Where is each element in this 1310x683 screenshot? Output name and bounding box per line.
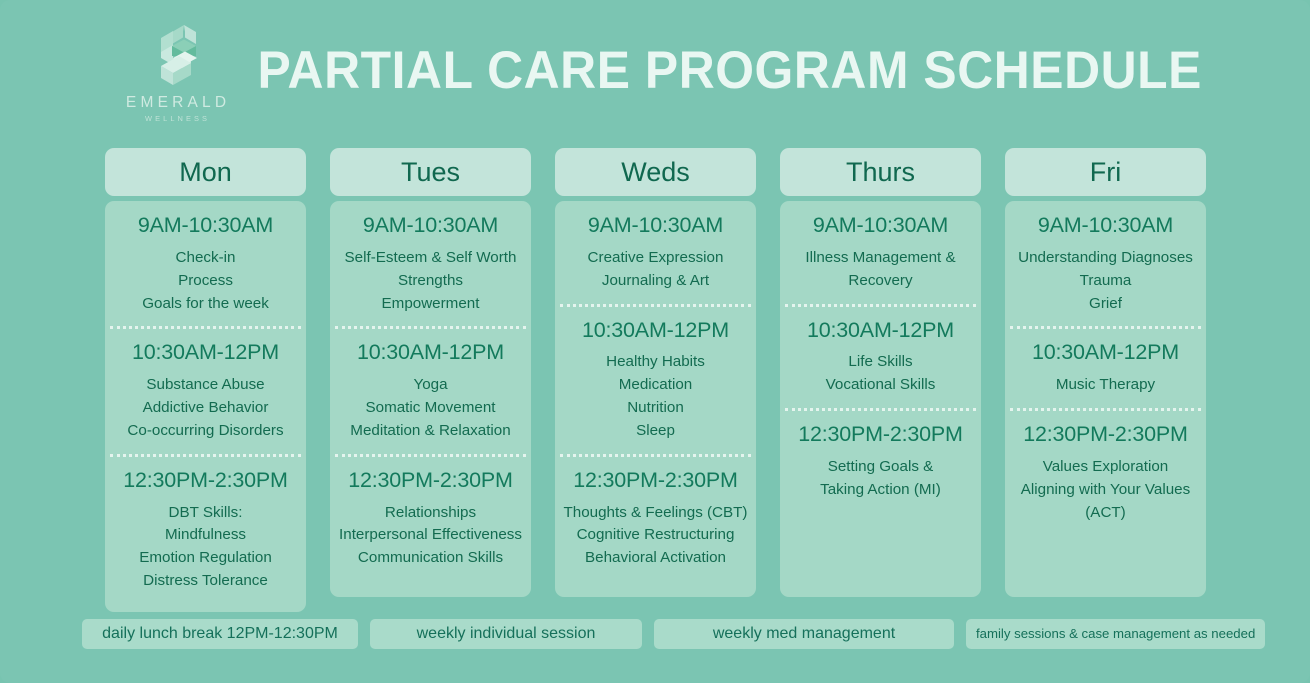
slot-time: 12:30PM-2:30PM (112, 468, 299, 493)
slot-activity-line: Mindfulness (112, 524, 299, 547)
slot-activity-line: Co-occurring Disorders (112, 420, 299, 443)
brand-lockup: EMERALD WELLNESS (128, 22, 224, 123)
day-card: 9AM-10:30AMSelf-Esteem & Self WorthStren… (330, 201, 531, 597)
slot-activities: Creative ExpressionJournaling & Art (562, 247, 749, 293)
schedule-slot[interactable]: 9AM-10:30AMCheck-inProcessGoals for the … (110, 207, 301, 324)
slot-activity-line: Yoga (337, 374, 524, 397)
slot-time: 9AM-10:30AM (787, 213, 974, 238)
slot-activities: Illness Management &Recovery (787, 247, 974, 293)
slot-activity-line: Setting Goals & (787, 456, 974, 479)
slot-time: 10:30AM-12PM (1012, 340, 1199, 365)
slot-activity-line: Healthy Habits (562, 351, 749, 374)
day-card: 9AM-10:30AMCreative ExpressionJournaling… (555, 201, 756, 597)
slot-activity-line: Aligning with Your Values (1012, 479, 1199, 502)
slot-activities: RelationshipsInterpersonal Effectiveness… (337, 502, 524, 570)
slot-activity-line: Process (112, 270, 299, 293)
slot-activities: Music Therapy (1012, 374, 1199, 397)
schedule-slot[interactable]: 10:30AM-12PMLife SkillsVocational Skills (785, 304, 976, 407)
schedule-slot[interactable]: 12:30PM-2:30PMSetting Goals &Taking Acti… (785, 408, 976, 511)
footer-note[interactable]: daily lunch break 12PM-12:30PM (82, 619, 358, 649)
slot-time: 10:30AM-12PM (787, 318, 974, 343)
slot-activity-line: Behavioral Activation (562, 547, 749, 570)
slot-time: 12:30PM-2:30PM (1012, 422, 1199, 447)
day-card: 9AM-10:30AMCheck-inProcessGoals for the … (105, 201, 306, 612)
slot-activity-line: Illness Management & (787, 247, 974, 270)
slot-activity-line: Self-Esteem & Self Worth (337, 247, 524, 270)
schedule-grid: Mon9AM-10:30AMCheck-inProcessGoals for t… (105, 148, 1205, 612)
day-column: Mon9AM-10:30AMCheck-inProcessGoals for t… (105, 148, 306, 612)
schedule-slot[interactable]: 9AM-10:30AMUnderstanding DiagnosesTrauma… (1010, 207, 1201, 324)
slot-time: 10:30AM-12PM (337, 340, 524, 365)
day-header-tues[interactable]: Tues (330, 148, 531, 196)
slot-activity-line: Life Skills (787, 351, 974, 374)
slot-activity-line: Taking Action (MI) (787, 479, 974, 502)
slot-activities: YogaSomatic MovementMeditation & Relaxat… (337, 374, 524, 442)
schedule-slot[interactable]: 10:30AM-12PMSubstance AbuseAddictive Beh… (110, 326, 301, 451)
day-header-thurs[interactable]: Thurs (780, 148, 981, 196)
slot-activity-line: Communication Skills (337, 547, 524, 570)
slot-activity-line: Check-in (112, 247, 299, 270)
slot-time: 9AM-10:30AM (337, 213, 524, 238)
poster-header: EMERALD WELLNESS PARTIAL CARE PROGRAM SC… (0, 0, 1310, 140)
slot-activities: Understanding DiagnosesTraumaGrief (1012, 247, 1199, 315)
schedule-slot[interactable]: 12:30PM-2:30PMDBT Skills:MindfulnessEmot… (110, 454, 301, 602)
schedule-slot[interactable]: 9AM-10:30AMSelf-Esteem & Self WorthStren… (335, 207, 526, 324)
slot-activities: Life SkillsVocational Skills (787, 351, 974, 397)
slot-activity-line: Recovery (787, 270, 974, 293)
day-header-fri[interactable]: Fri (1005, 148, 1206, 196)
day-card: 9AM-10:30AMUnderstanding DiagnosesTrauma… (1005, 201, 1206, 597)
slot-time: 12:30PM-2:30PM (787, 422, 974, 447)
slot-activity-line: Vocational Skills (787, 374, 974, 397)
brand-name: EMERALD (122, 95, 231, 111)
slot-time: 10:30AM-12PM (562, 318, 749, 343)
slot-activities: Setting Goals &Taking Action (MI) (787, 456, 974, 502)
slot-activity-line: Distress Tolerance (112, 570, 299, 593)
slot-time: 9AM-10:30AM (112, 213, 299, 238)
schedule-slot[interactable]: 12:30PM-2:30PMThoughts & Feelings (CBT)C… (560, 454, 751, 579)
brand-subtitle: WELLNESS (142, 115, 210, 122)
slot-activity-line: Thoughts & Feelings (CBT) (562, 502, 749, 525)
slot-activity-line: Music Therapy (1012, 374, 1199, 397)
slot-activity-line: Strengths (337, 270, 524, 293)
slot-time: 9AM-10:30AM (1012, 213, 1199, 238)
slot-activity-line: Medication (562, 374, 749, 397)
slot-activity-line: Nutrition (562, 397, 749, 420)
slot-activity-line: Substance Abuse (112, 374, 299, 397)
slot-activity-line: Trauma (1012, 270, 1199, 293)
slot-time: 10:30AM-12PM (112, 340, 299, 365)
slot-activity-line: Creative Expression (562, 247, 749, 270)
footer-note[interactable]: family sessions & case management as nee… (966, 619, 1265, 649)
day-header-mon[interactable]: Mon (105, 148, 306, 196)
slot-activity-line: Emotion Regulation (112, 547, 299, 570)
schedule-slot[interactable]: 9AM-10:30AMIllness Management &Recovery (785, 207, 976, 302)
slot-activity-line: Grief (1012, 293, 1199, 316)
slot-activity-line: (ACT) (1012, 502, 1199, 525)
emerald-hexagon-e-logo-icon (147, 22, 205, 88)
slot-activity-line: Interpersonal Effectiveness (337, 524, 524, 547)
schedule-slot[interactable]: 10:30AM-12PMHealthy HabitsMedicationNutr… (560, 304, 751, 452)
slot-activities: Substance AbuseAddictive BehaviorCo-occu… (112, 374, 299, 442)
slot-time: 9AM-10:30AM (562, 213, 749, 238)
slot-activity-line: Empowerment (337, 293, 524, 316)
slot-activity-line: Addictive Behavior (112, 397, 299, 420)
slot-activity-line: Values Exploration (1012, 456, 1199, 479)
slot-activity-line: Relationships (337, 502, 524, 525)
slot-activities: Check-inProcessGoals for the week (112, 247, 299, 315)
schedule-slot[interactable]: 9AM-10:30AMCreative ExpressionJournaling… (560, 207, 751, 302)
slot-activities: Values ExplorationAligning with Your Val… (1012, 456, 1199, 524)
footer-note[interactable]: weekly individual session (370, 619, 642, 649)
schedule-slot[interactable]: 10:30AM-12PMYogaSomatic MovementMeditati… (335, 326, 526, 451)
slot-activity-line: Goals for the week (112, 293, 299, 316)
slot-activity-line: Sleep (562, 420, 749, 443)
slot-activity-line: Cognitive Restructuring (562, 524, 749, 547)
slot-activities: Thoughts & Feelings (CBT)Cognitive Restr… (562, 502, 749, 570)
day-column: Fri9AM-10:30AMUnderstanding DiagnosesTra… (1005, 148, 1206, 612)
page-title: PARTIAL CARE PROGRAM SCHEDULE (257, 44, 1305, 97)
day-column: Tues9AM-10:30AMSelf-Esteem & Self WorthS… (330, 148, 531, 612)
slot-time: 12:30PM-2:30PM (562, 468, 749, 493)
slot-activity-line: Somatic Movement (337, 397, 524, 420)
slot-activities: Self-Esteem & Self WorthStrengthsEmpower… (337, 247, 524, 315)
day-column: Thurs9AM-10:30AMIllness Management &Reco… (780, 148, 981, 612)
footer-notes: daily lunch break 12PM-12:30PMweekly ind… (82, 619, 1228, 649)
day-card: 9AM-10:30AMIllness Management &Recovery1… (780, 201, 981, 597)
slot-time: 12:30PM-2:30PM (337, 468, 524, 493)
slot-activity-line: DBT Skills: (112, 502, 299, 525)
schedule-slot[interactable]: 12:30PM-2:30PMValues ExplorationAligning… (1010, 408, 1201, 533)
slot-activities: Healthy HabitsMedicationNutritionSleep (562, 351, 749, 442)
footer-note[interactable]: weekly med management (654, 619, 954, 649)
schedule-slot[interactable]: 12:30PM-2:30PMRelationshipsInterpersonal… (335, 454, 526, 579)
slot-activity-line: Meditation & Relaxation (337, 420, 524, 443)
day-header-weds[interactable]: Weds (555, 148, 756, 196)
schedule-poster: EMERALD WELLNESS PARTIAL CARE PROGRAM SC… (0, 0, 1310, 683)
slot-activity-line: Journaling & Art (562, 270, 749, 293)
slot-activity-line: Understanding Diagnoses (1012, 247, 1199, 270)
day-column: Weds9AM-10:30AMCreative ExpressionJourna… (555, 148, 756, 612)
slot-activities: DBT Skills:MindfulnessEmotion Regulation… (112, 502, 299, 593)
schedule-slot[interactable]: 10:30AM-12PMMusic Therapy (1010, 326, 1201, 406)
